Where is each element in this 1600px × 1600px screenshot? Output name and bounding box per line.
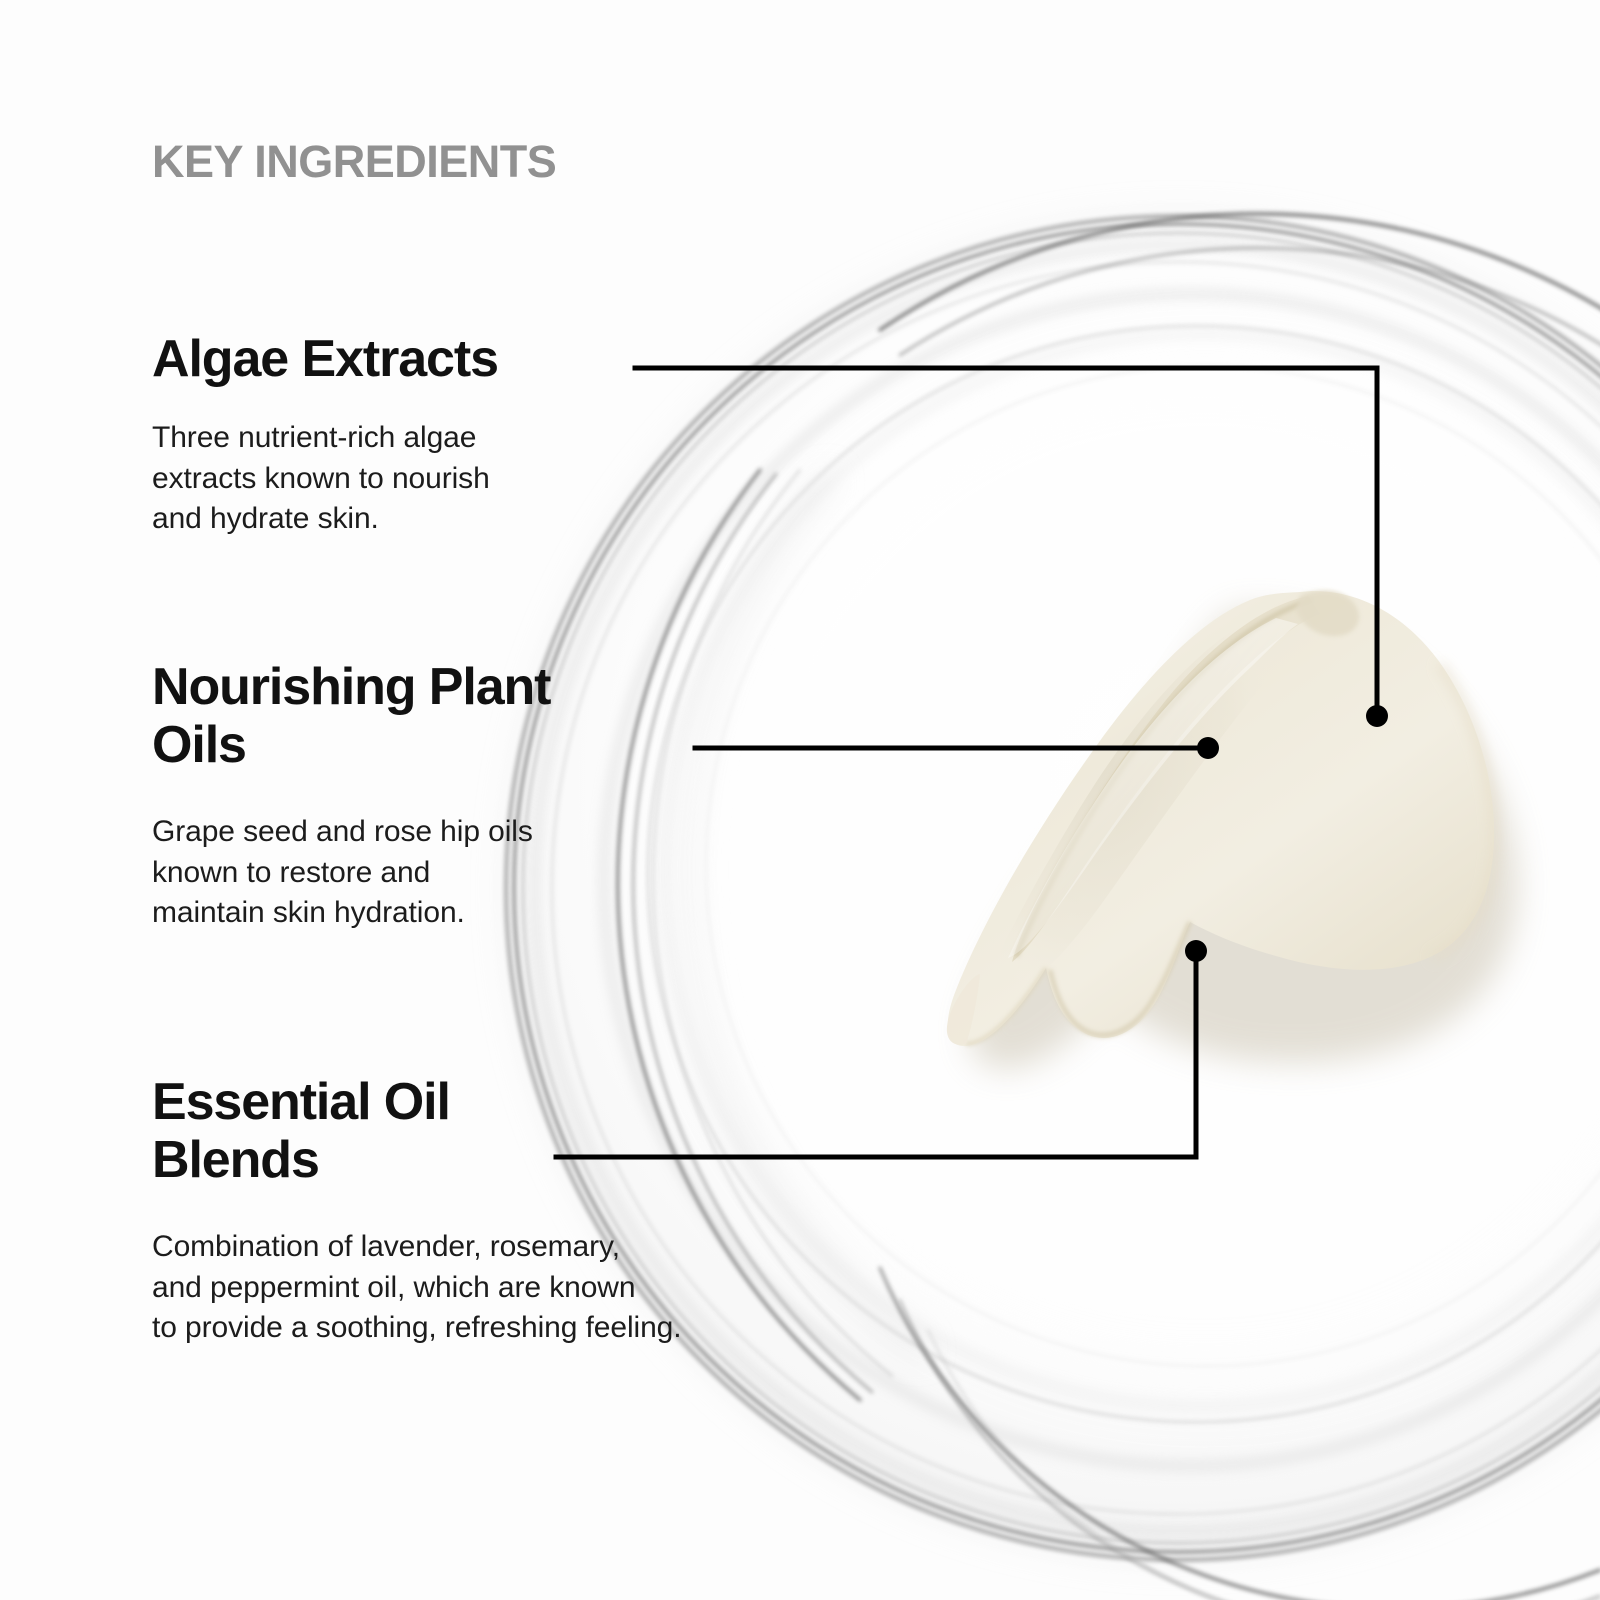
ingredient-heading-nourishing-plant-oils: Nourishing Plant Oils xyxy=(152,658,550,774)
ingredient-block-essential-oil-blends: Essential Oil Blends Combination of lave… xyxy=(152,1073,681,1349)
ingredient-block-algae-extracts: Algae Extracts Three nutrient-rich algae… xyxy=(152,330,498,540)
section-eyebrow-title: KEY INGREDIENTS xyxy=(152,139,556,184)
ingredient-heading-essential-oil-blends: Essential Oil Blends xyxy=(152,1073,681,1189)
ingredient-heading-algae-extracts: Algae Extracts xyxy=(152,330,498,388)
ingredient-description-nourishing-plant-oils: Grape seed and rose hip oils known to re… xyxy=(152,812,550,934)
key-ingredients-infographic: KEY INGREDIENTS Algae Extracts Three nut… xyxy=(0,0,1600,1600)
ingredient-description-essential-oil-blends: Combination of lavender, rosemary, and p… xyxy=(152,1227,681,1349)
ingredient-block-nourishing-plant-oils: Nourishing Plant Oils Grape seed and ros… xyxy=(152,658,550,934)
ingredient-description-algae-extracts: Three nutrient-rich algae extracts known… xyxy=(152,418,498,540)
